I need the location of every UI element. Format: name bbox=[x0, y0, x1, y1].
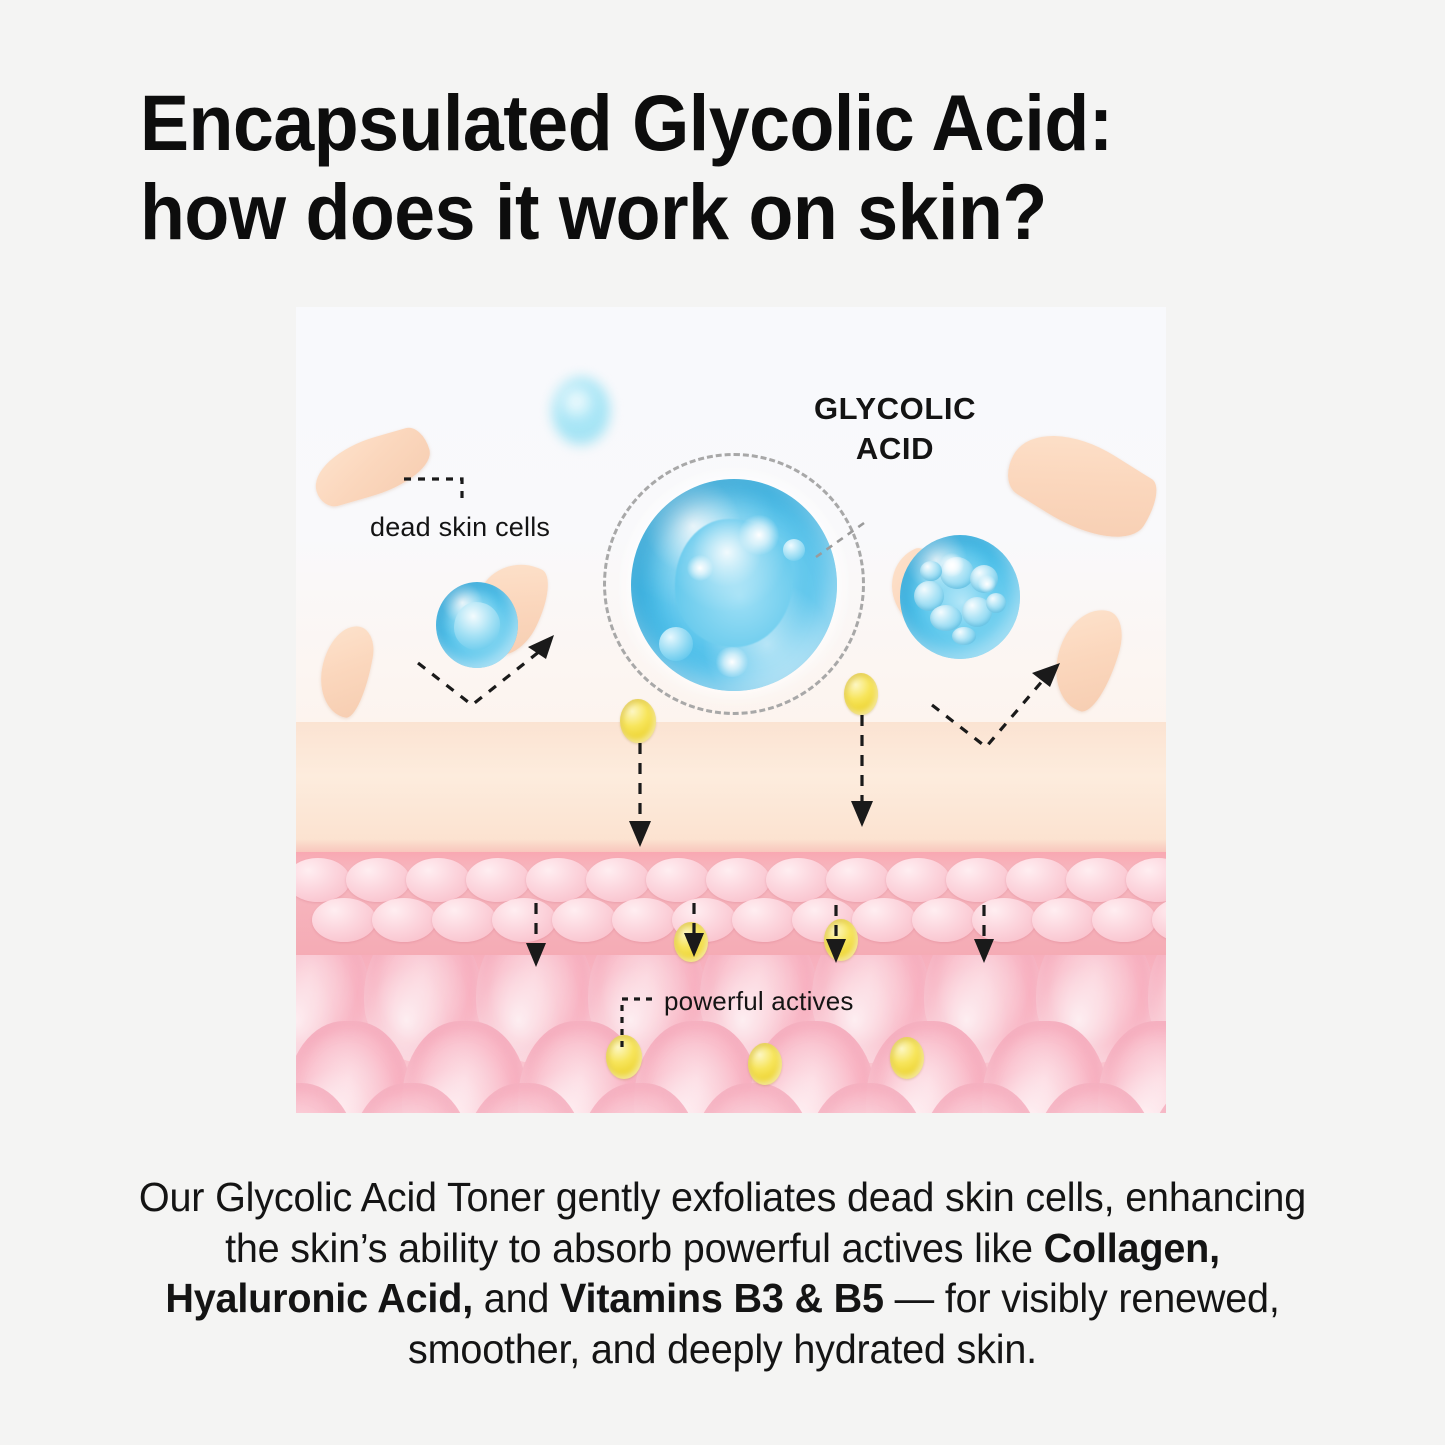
basal-cell bbox=[1126, 858, 1166, 902]
powerful-active-particle-icon bbox=[890, 1037, 924, 1079]
powerful-active-particle-icon bbox=[844, 673, 878, 715]
encapsulated-capsule-icon-left bbox=[436, 582, 518, 668]
basal-cell bbox=[912, 898, 976, 942]
powerful-active-particle-icon bbox=[606, 1035, 642, 1079]
page-title-line-1: Encapsulated Glycolic Acid: bbox=[140, 78, 1113, 167]
basal-cell bbox=[972, 898, 1036, 942]
basal-cell bbox=[1066, 858, 1130, 902]
basal-cell bbox=[432, 898, 496, 942]
basal-cell bbox=[766, 858, 830, 902]
basal-cell bbox=[296, 858, 350, 902]
sparkle-icon bbox=[978, 575, 996, 593]
capsule-inner-bubble bbox=[930, 605, 962, 631]
skin-cross-section-diagram: GLYCOLIC ACID dead skin cells powerful a… bbox=[296, 307, 1166, 1113]
page-title: Encapsulated Glycolic Acid: how does it … bbox=[140, 78, 1256, 257]
encapsulated-capsule-icon-right bbox=[900, 535, 1020, 659]
basal-cell bbox=[312, 898, 376, 942]
basal-cell bbox=[346, 858, 410, 902]
capsule-inner-bubble bbox=[920, 561, 942, 581]
powerful-active-particle-icon bbox=[824, 919, 858, 961]
powerful-active-particle-icon bbox=[674, 922, 708, 962]
capsule-inner-bubble bbox=[952, 627, 976, 645]
basal-cell bbox=[612, 898, 676, 942]
basal-cell bbox=[526, 858, 590, 902]
basal-cell bbox=[1032, 898, 1096, 942]
basal-cell bbox=[1006, 858, 1070, 902]
basal-cell bbox=[706, 858, 770, 902]
encapsulation-dashed-outline bbox=[603, 453, 865, 715]
basal-cell bbox=[552, 898, 616, 942]
description-bold-run: Vitamins B3 & B5 bbox=[560, 1275, 884, 1321]
sparkle-icon bbox=[940, 553, 964, 577]
basal-cell bbox=[492, 898, 556, 942]
description-text-run: and bbox=[473, 1275, 560, 1321]
description-paragraph: Our Glycolic Acid Toner gently exfoliate… bbox=[131, 1172, 1313, 1375]
basal-cell bbox=[886, 858, 950, 902]
capsule-core bbox=[454, 602, 500, 650]
powerful-actives-label: powerful actives bbox=[664, 986, 854, 1017]
glycolic-acid-label-line-2: ACID bbox=[856, 431, 934, 466]
basal-cell bbox=[852, 898, 916, 942]
powerful-active-particle-icon bbox=[748, 1043, 782, 1085]
glycolic-acid-label: GLYCOLIC ACID bbox=[790, 389, 1000, 470]
dead-skin-cells-label: dead skin cells bbox=[370, 512, 550, 543]
basal-cell bbox=[1152, 898, 1166, 942]
glycolic-acid-label-line-1: GLYCOLIC bbox=[814, 391, 976, 426]
diagram-basal-cell-layer bbox=[296, 852, 1166, 962]
basal-cell bbox=[586, 858, 650, 902]
diagram-epidermis-layer bbox=[296, 722, 1166, 857]
glycolic-acid-droplet-icon bbox=[603, 453, 865, 715]
basal-cell bbox=[1092, 898, 1156, 942]
basal-cell bbox=[406, 858, 470, 902]
basal-cell bbox=[732, 898, 796, 942]
page-title-line-2: how does it work on skin? bbox=[140, 167, 1256, 256]
basal-cell bbox=[466, 858, 530, 902]
diagram-dermis-layer bbox=[296, 955, 1166, 1113]
basal-cell bbox=[946, 858, 1010, 902]
basal-cell bbox=[826, 858, 890, 902]
powerful-active-particle-icon bbox=[620, 699, 656, 743]
basal-cell bbox=[646, 858, 710, 902]
floating-bubble-icon bbox=[552, 377, 610, 445]
basal-cell bbox=[372, 898, 436, 942]
capsule-inner-bubble bbox=[986, 593, 1006, 613]
